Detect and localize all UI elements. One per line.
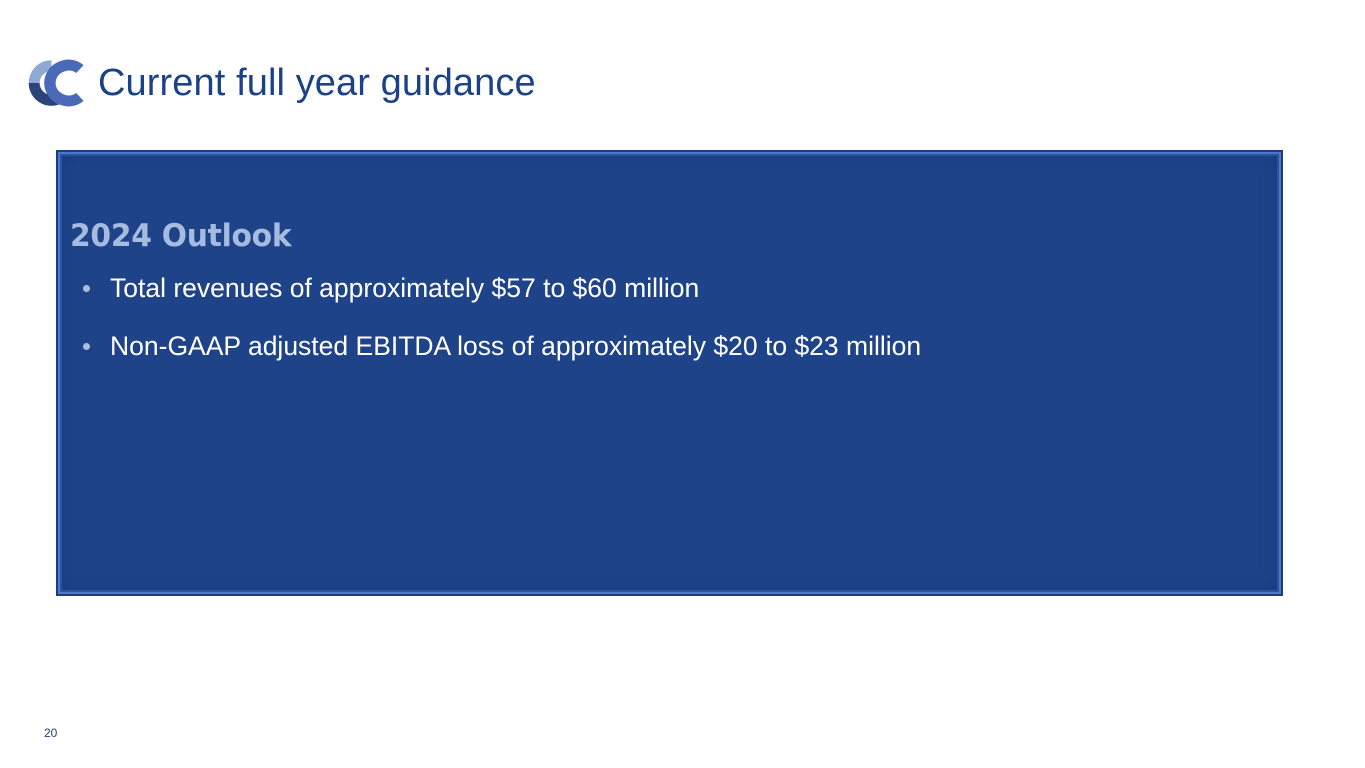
outlook-heading: 2024 Outlook bbox=[70, 214, 1194, 258]
page-number: 20 bbox=[44, 725, 57, 741]
outlook-callout-box: 2024 Outlook Total revenues of approxima… bbox=[56, 150, 1283, 596]
bullet-dot-icon bbox=[83, 285, 90, 292]
outlook-content: 2024 Outlook Total revenues of approxima… bbox=[58, 152, 1281, 594]
bullet-text: Non-GAAP adjusted EBITDA loss of approxi… bbox=[110, 331, 921, 361]
company-logo-double-c-icon bbox=[25, 57, 87, 109]
list-item: Non-GAAP adjusted EBITDA loss of approxi… bbox=[66, 320, 1241, 372]
slide-header: Current full year guidance bbox=[0, 0, 1365, 140]
list-item: Total revenues of approximately $57 to $… bbox=[66, 262, 1241, 314]
page-title: Current full year guidance bbox=[98, 57, 536, 109]
slide-canvas: Current full year guidance 2024 Outlook … bbox=[0, 0, 1365, 768]
bullet-text: Total revenues of approximately $57 to $… bbox=[110, 273, 699, 303]
bullet-dot-icon bbox=[83, 343, 90, 350]
outlook-bullet-list: Total revenues of approximately $57 to $… bbox=[66, 262, 1241, 372]
